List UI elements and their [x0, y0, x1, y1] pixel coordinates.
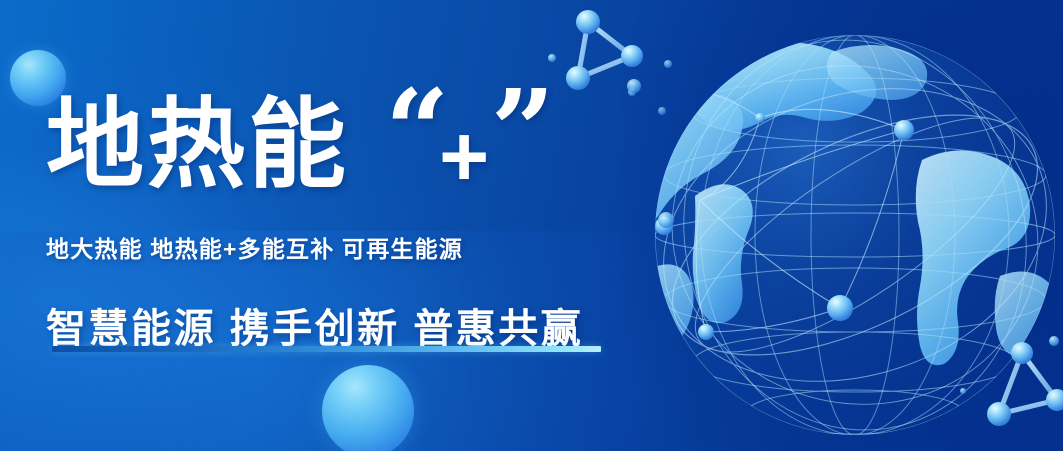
quote-close-icon: ”: [491, 76, 555, 188]
page-title: 地热能: [46, 92, 349, 196]
accent-underline-bar: [52, 346, 601, 352]
title-row: 地热能 “ + ”: [46, 92, 646, 204]
plus-sign-icon: +: [439, 114, 489, 200]
quoted-plus-mark: “ + ”: [383, 92, 551, 200]
geothermal-energy-banner: 地热能 “ + ” 地大热能 地热能+多能互补 可再生能源 智慧能源 携手创新 …: [0, 0, 1063, 451]
banner-text-block: 地热能 “ + ” 地大热能 地热能+多能互补 可再生能源 智慧能源 携手创新 …: [46, 92, 646, 354]
banner-subtitle: 地大热能 地热能+多能互补 可再生能源: [46, 230, 646, 264]
